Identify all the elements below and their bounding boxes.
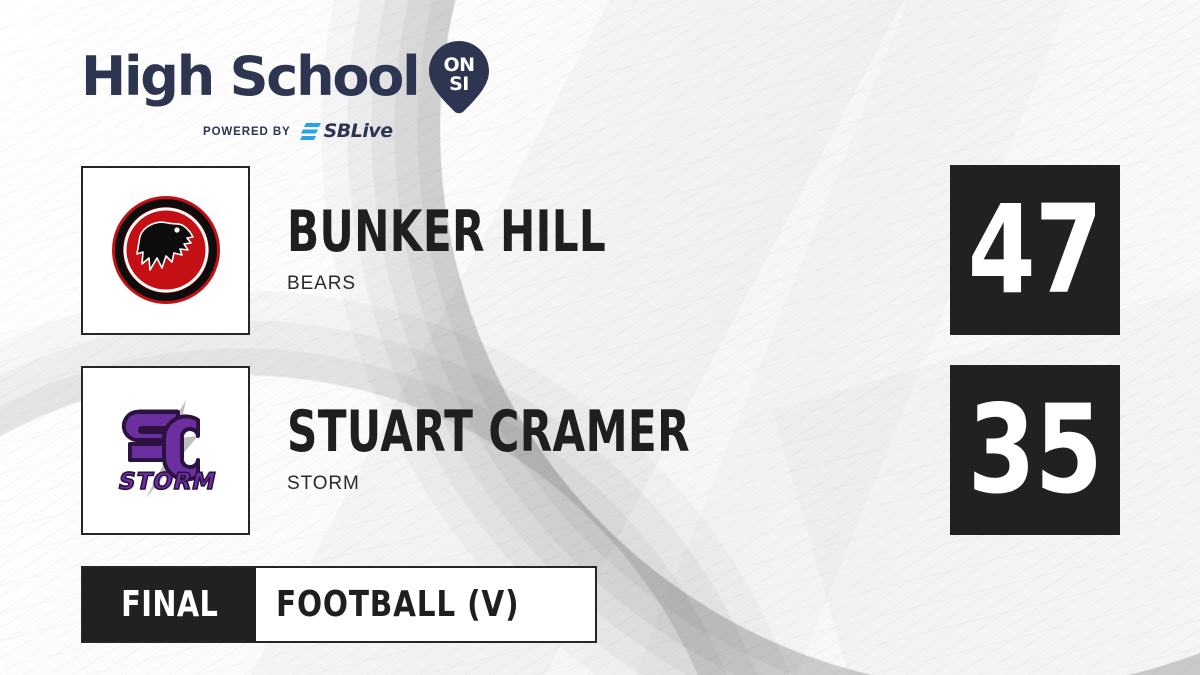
storm-wordmark: STORM [116, 468, 219, 495]
map-pin-icon: ON SI [428, 40, 490, 114]
sport-label: FOOTBALL (V) [276, 584, 519, 625]
team-text-block: BUNKER HILL BEARS [287, 205, 950, 296]
powered-by-row: POWERED BY SBLive [81, 122, 511, 141]
brand-wordmark: High School [81, 50, 418, 104]
badge-line-2: SI [450, 73, 470, 95]
team-score: 47 [968, 189, 1102, 311]
scoreboard-graphic: High School ON SI POWERED BY SBLive [0, 0, 1200, 675]
team-score: 35 [968, 389, 1102, 511]
team-score-box: 47 [950, 165, 1120, 335]
team-text-block: STUART CRAMER STORM [287, 405, 950, 496]
brand-logo-row: High School ON SI [81, 40, 511, 114]
sblive-logo: SBLive [300, 122, 393, 141]
sblive-bolt-icon [300, 123, 321, 140]
team-name: STUART CRAMER [287, 405, 778, 460]
status-badge-label: FINAL [121, 584, 218, 625]
team-row: BUNKER HILL BEARS 47 [81, 165, 1120, 335]
team-mascot: STORM [287, 473, 950, 495]
team-name: BUNKER HILL [287, 205, 778, 260]
game-status-bar: FINAL FOOTBALL (V) [81, 566, 597, 643]
brand-header: High School ON SI POWERED BY SBLive [81, 40, 511, 141]
stuart-cramer-storm-logo: STORM [81, 366, 250, 535]
powered-by-label: POWERED BY [203, 126, 291, 138]
sport-label-container: FOOTBALL (V) [256, 568, 595, 641]
status-badge: FINAL [83, 568, 256, 641]
team-mascot: BEARS [287, 273, 950, 295]
team-score-box: 35 [950, 365, 1120, 535]
sblive-wordmark: SBLive [324, 122, 393, 141]
team-row: STORM STUART CRAMER STORM 35 [81, 365, 1120, 535]
bunker-hill-bears-logo [81, 166, 250, 335]
